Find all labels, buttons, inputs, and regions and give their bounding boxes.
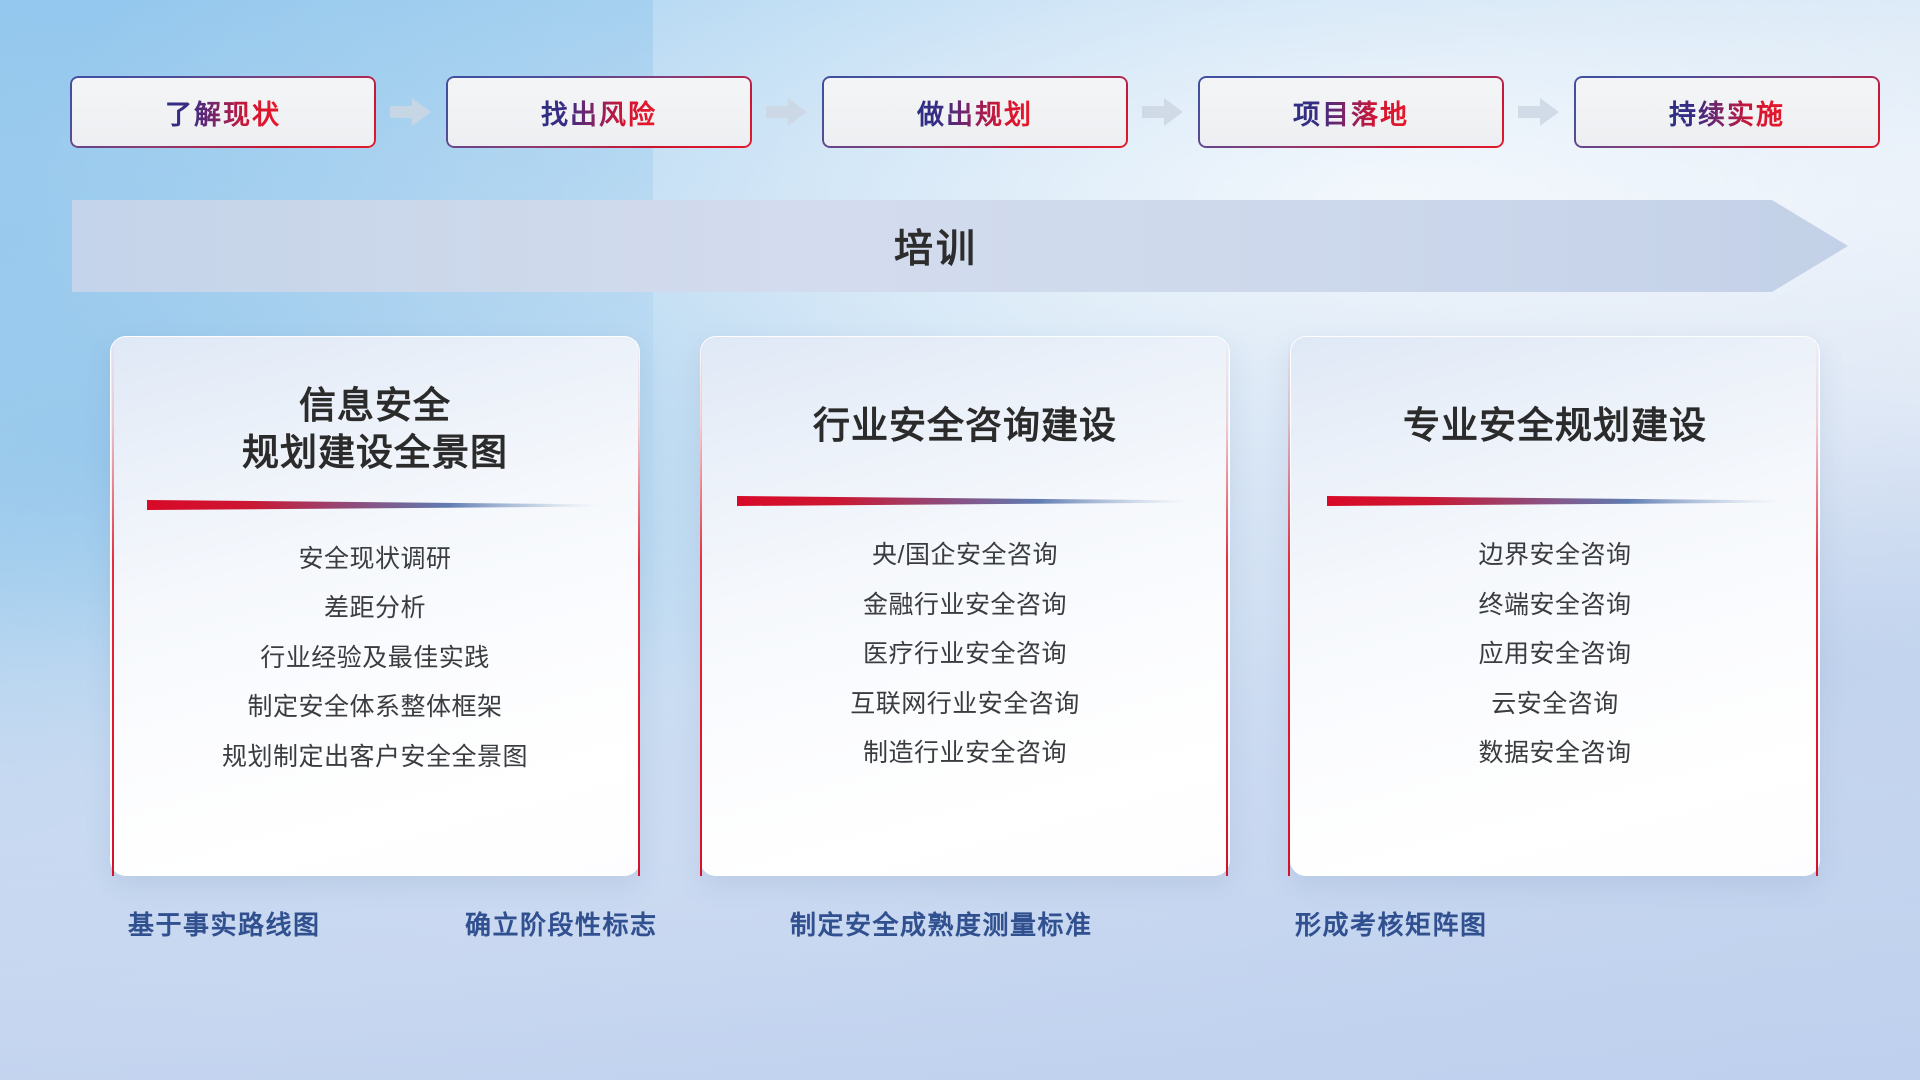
banner-title: 培训 xyxy=(72,200,1848,292)
list-item: 终端安全咨询 xyxy=(1478,585,1631,626)
list-item: 数据安全咨询 xyxy=(1478,733,1631,774)
step-box-1[interactable]: 了解现状 xyxy=(70,76,376,148)
chevron-right-arrow-icon xyxy=(1142,97,1184,127)
step-box-4[interactable]: 项目落地 xyxy=(1198,76,1504,148)
process-step-row: 了解现状 找出风险 做出规划 项目落地 xyxy=(70,76,1850,148)
list-item: 安全现状调研 xyxy=(298,539,451,580)
card-rail-right-2 xyxy=(1226,336,1228,876)
list-item: 边界安全咨询 xyxy=(1478,535,1631,576)
step-group-3: 做出规划 xyxy=(822,76,1128,148)
card-divider-1 xyxy=(147,497,603,513)
card-divider-2 xyxy=(737,493,1193,509)
step-label-3: 做出规划 xyxy=(917,93,1033,132)
step-label-5: 持续实施 xyxy=(1669,93,1785,132)
list-item: 制造行业安全咨询 xyxy=(863,733,1067,774)
footer-label-row: 基于事实路线图 确立阶段性标志 制定安全成熟度测量标准 形成考核矩阵图 xyxy=(0,905,1920,965)
card-rail-left-1 xyxy=(112,336,114,876)
chevron-right-arrow-icon xyxy=(1518,97,1560,127)
list-item: 差距分析 xyxy=(324,588,426,629)
list-item: 金融行业安全咨询 xyxy=(863,585,1067,626)
card-divider-3 xyxy=(1327,493,1783,509)
list-item: 应用安全咨询 xyxy=(1478,634,1631,675)
card-title-3: 专业安全规划建设 xyxy=(1403,402,1707,449)
card-list-1: 安全现状调研 差距分析 行业经验及最佳实践 制定安全体系整体框架 规划制定出客户… xyxy=(222,539,528,778)
card-title-2: 行业安全咨询建设 xyxy=(813,402,1117,449)
list-item: 云安全咨询 xyxy=(1491,684,1619,725)
step-group-2: 找出风险 xyxy=(446,76,752,148)
chevron-right-arrow-icon xyxy=(390,97,432,127)
card-rail-left-3 xyxy=(1288,336,1290,876)
card-title-1: 信息安全 规划建设全景图 xyxy=(242,382,508,477)
footer-label-4: 形成考核矩阵图 xyxy=(1295,905,1488,942)
card-rail-left-2 xyxy=(700,336,702,876)
chevron-right-arrow-icon xyxy=(766,97,808,127)
card-list-2: 央/国企安全咨询 金融行业安全咨询 医疗行业安全咨询 互联网行业安全咨询 制造行… xyxy=(850,535,1080,774)
list-item: 央/国企安全咨询 xyxy=(872,535,1058,576)
list-item: 规划制定出客户安全全景图 xyxy=(222,737,528,778)
step-group-1: 了解现状 xyxy=(70,76,376,148)
step-group-4: 项目落地 xyxy=(1198,76,1504,148)
footer-label-3: 制定安全成熟度测量标准 xyxy=(790,905,1093,942)
step-group-5: 持续实施 xyxy=(1574,76,1880,148)
step-box-3[interactable]: 做出规划 xyxy=(822,76,1128,148)
footer-label-1: 基于事实路线图 xyxy=(128,905,321,942)
card-information-security-panorama[interactable]: 信息安全 规划建设全景图 xyxy=(110,336,640,876)
card-row: 信息安全 规划建设全景图 xyxy=(110,336,1820,876)
step-label-1: 了解现状 xyxy=(165,93,281,132)
step-box-2[interactable]: 找出风险 xyxy=(446,76,752,148)
list-item: 行业经验及最佳实践 xyxy=(260,638,490,679)
footer-label-2: 确立阶段性标志 xyxy=(465,905,658,942)
training-banner: 培训 xyxy=(72,200,1848,292)
card-rail-right-1 xyxy=(638,336,640,876)
list-item: 医疗行业安全咨询 xyxy=(863,634,1067,675)
card-professional-security-planning[interactable]: 专业安全规划建设 xyxy=(1290,336,1820,876)
list-item: 制定安全体系整体框架 xyxy=(247,687,502,728)
card-industry-security-consulting[interactable]: 行业安全咨询建设 xyxy=(700,336,1230,876)
list-item: 互联网行业安全咨询 xyxy=(850,684,1080,725)
step-box-5[interactable]: 持续实施 xyxy=(1574,76,1880,148)
card-rail-right-3 xyxy=(1816,336,1818,876)
card-list-3: 边界安全咨询 终端安全咨询 应用安全咨询 云安全咨询 数据安全咨询 xyxy=(1478,535,1631,774)
step-label-4: 项目落地 xyxy=(1293,93,1409,132)
step-label-2: 找出风险 xyxy=(541,93,657,132)
